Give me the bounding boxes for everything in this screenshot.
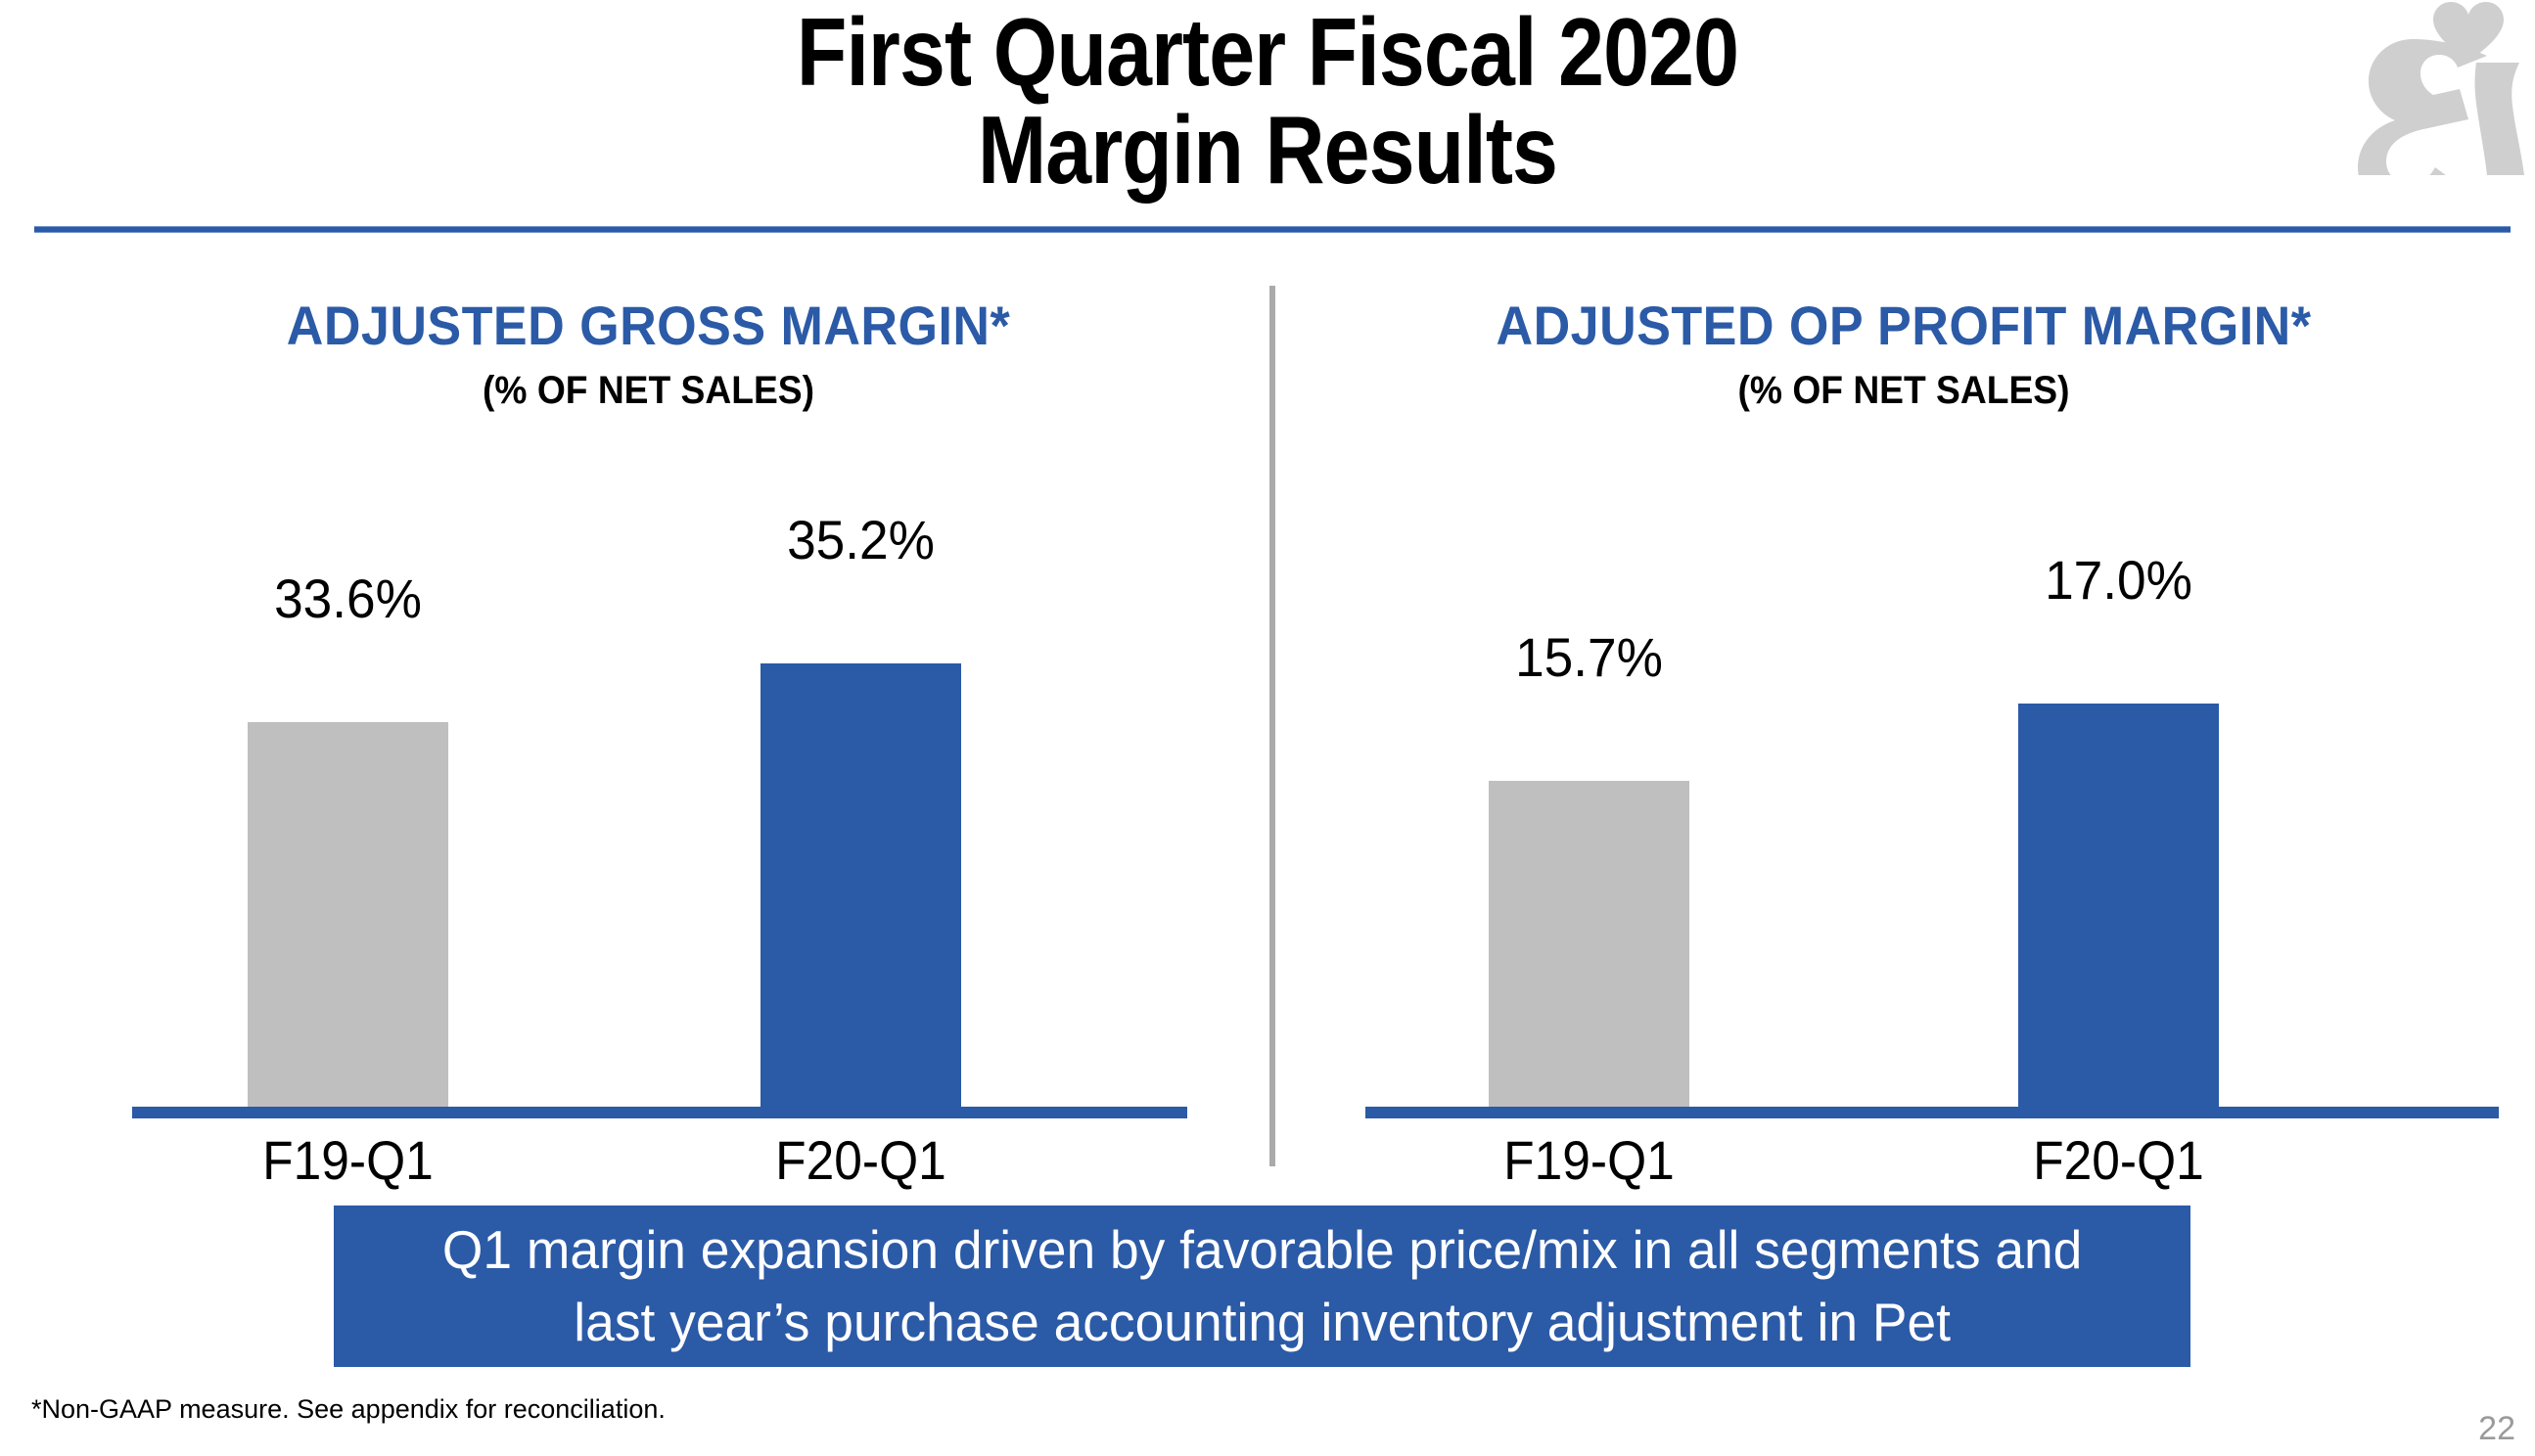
panel-adjusted-gross-margin: ADJUSTED GROSS MARGIN* (% OF NET SALES) [39, 294, 1258, 413]
bar-f19q1-gross-margin [248, 722, 448, 1107]
category-label-f20q1-gross-margin: F20-Q1 [751, 1128, 971, 1192]
slide-canvas: First Quarter Fiscal 2020 Margin Results… [0, 0, 2535, 1456]
chart-adjusted-gross-margin: 33.6% F19-Q1 35.2% F20-Q1 [132, 639, 1187, 1118]
panel-divider [1269, 286, 1275, 1166]
callout-box: Q1 margin expansion driven by favorable … [334, 1206, 2190, 1367]
panel-subtitle-gross-margin: (% OF NET SALES) [82, 369, 1216, 413]
bar-f20q1-gross-margin [760, 663, 961, 1107]
footnote: *Non-GAAP measure. See appendix for reco… [31, 1394, 666, 1425]
axis-baseline-gross-margin [132, 1107, 1187, 1118]
title-line-2: Margin Results [177, 102, 2357, 200]
bar-f20q1-op-profit-margin [2018, 704, 2219, 1107]
callout-line-1: Q1 margin expansion driven by favorable … [442, 1214, 2082, 1286]
category-label-f19q1-gross-margin: F19-Q1 [238, 1128, 458, 1192]
axis-baseline-op-profit-margin [1365, 1107, 2499, 1118]
title-line-1: First Quarter Fiscal 2020 [177, 4, 2357, 102]
bar-value-f19q1-op-profit-margin: 15.7% [1475, 625, 1703, 689]
panel-adjusted-op-profit-margin: ADJUSTED OP PROFIT MARGIN* (% OF NET SAL… [1292, 294, 2515, 413]
panel-subtitle-op-profit-margin: (% OF NET SALES) [1335, 369, 2473, 413]
category-label-f19q1-op-profit-margin: F19-Q1 [1479, 1128, 1699, 1192]
title-divider-rule [34, 226, 2511, 233]
page-title: First Quarter Fiscal 2020 Margin Results [0, 4, 2535, 200]
panel-title-op-profit-margin: ADJUSTED OP PROFIT MARGIN* [1335, 294, 2473, 357]
bar-value-f20q1-gross-margin: 35.2% [747, 508, 975, 571]
chart-adjusted-op-profit-margin: 15.7% F19-Q1 17.0% F20-Q1 [1365, 639, 2499, 1118]
callout-line-2: last year’s purchase accounting inventor… [442, 1287, 2082, 1358]
bar-value-f19q1-gross-margin: 33.6% [234, 567, 462, 630]
panel-title-gross-margin: ADJUSTED GROSS MARGIN* [82, 294, 1216, 357]
general-mills-logo-icon [2351, 0, 2535, 175]
page-number: 22 [2478, 1410, 2515, 1448]
category-label-f20q1-op-profit-margin: F20-Q1 [2008, 1128, 2229, 1192]
callout-text: Q1 margin expansion driven by favorable … [442, 1214, 2082, 1357]
bar-value-f20q1-op-profit-margin: 17.0% [2005, 548, 2233, 612]
bar-f19q1-op-profit-margin [1489, 781, 1689, 1107]
